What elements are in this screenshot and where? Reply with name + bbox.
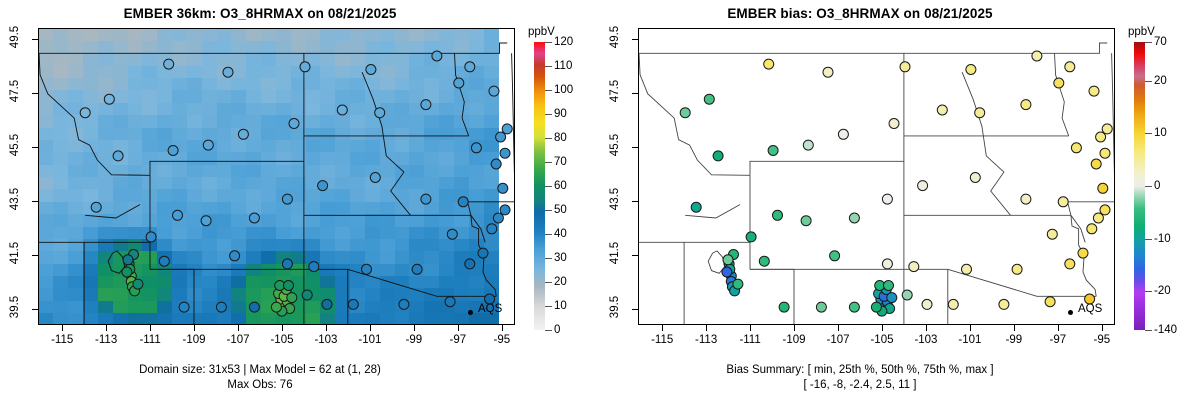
aqs-legend-dot <box>468 310 473 315</box>
station-marker[interactable] <box>801 216 811 226</box>
station-marker[interactable] <box>849 302 859 312</box>
station-marker[interactable] <box>491 159 501 169</box>
station-marker[interactable] <box>970 173 980 183</box>
station-marker[interactable] <box>889 119 899 129</box>
colorbar-units-label-bias: ppbV <box>1128 26 1155 38</box>
y-axis-tick <box>32 255 38 256</box>
station-marker[interactable] <box>282 259 292 269</box>
y-axis-tick-label: 49.5 <box>9 20 21 54</box>
station-marker[interactable] <box>1065 259 1075 269</box>
station-marker[interactable] <box>849 213 859 223</box>
colorbar-tick-label: 0 <box>1154 180 1160 192</box>
x-axis-tick <box>370 325 371 331</box>
y-axis-tick <box>632 147 638 148</box>
station-marker[interactable] <box>122 267 132 277</box>
y-axis-tick <box>632 255 638 256</box>
station-marker[interactable] <box>238 129 248 139</box>
x-axis-tick-label: -95 <box>1093 334 1110 346</box>
station-marker[interactable] <box>948 299 958 309</box>
x-axis-tick-label: -95 <box>493 334 510 346</box>
x-axis-tick <box>458 325 459 331</box>
y-axis-tick-label: 45.5 <box>9 128 21 162</box>
station-marker[interactable] <box>80 108 90 118</box>
x-axis-tick-label: -97 <box>1050 334 1067 346</box>
state-boundary <box>512 53 515 193</box>
station-marker[interactable] <box>502 124 512 134</box>
colorbar-tick <box>545 138 552 139</box>
colorbar-tick-label: -140 <box>1154 324 1177 336</box>
x-axis-tick-label: -97 <box>450 334 467 346</box>
y-axis-tick <box>32 93 38 94</box>
station-marker[interactable] <box>284 281 294 291</box>
y-axis-tick-label: 43.5 <box>609 182 621 216</box>
station-marker[interactable] <box>271 302 281 312</box>
y-axis-tick <box>32 201 38 202</box>
y-axis-tick-label: 39.5 <box>609 290 621 324</box>
x-axis-tick <box>838 325 839 331</box>
station-marker[interactable] <box>498 183 508 193</box>
x-axis-tick-label: -109 <box>183 334 206 346</box>
x-axis-tick <box>326 325 327 331</box>
station-marker[interactable] <box>713 151 723 161</box>
station-marker[interactable] <box>882 194 892 204</box>
station-marker[interactable] <box>123 255 133 265</box>
station-marker[interactable] <box>133 279 143 289</box>
y-axis-tick <box>632 39 638 40</box>
state-boundary <box>150 161 304 175</box>
colorbar-tick-label: 60 <box>554 180 567 192</box>
station-marker[interactable] <box>113 151 123 161</box>
y-axis-tick-label: 43.5 <box>9 182 21 216</box>
station-marker[interactable] <box>500 205 510 215</box>
x-axis-tick-label: -109 <box>783 334 806 346</box>
station-marker[interactable] <box>421 100 431 110</box>
x-axis-tick <box>970 325 971 331</box>
x-axis-tick <box>282 325 283 331</box>
station-marker[interactable] <box>289 119 299 129</box>
station-marker[interactable] <box>764 59 774 69</box>
station-marker[interactable] <box>500 148 510 158</box>
colorbar-tick-label: 10 <box>554 300 567 312</box>
station-marker[interactable] <box>164 59 174 69</box>
station-marker[interactable] <box>478 248 488 258</box>
station-marker[interactable] <box>1047 229 1057 239</box>
station-marker[interactable] <box>104 94 114 104</box>
caption-max-obs: Max Obs: 76 <box>0 378 520 393</box>
station-marker[interactable] <box>918 181 928 191</box>
station-marker[interactable] <box>159 256 169 266</box>
x-axis-tick-label: -107 <box>827 334 850 346</box>
y-axis-tick-label: 41.5 <box>609 236 621 270</box>
station-marker[interactable] <box>146 232 156 242</box>
station-marker[interactable] <box>487 224 497 234</box>
station-marker[interactable] <box>445 297 455 307</box>
station-marker[interactable] <box>680 108 690 118</box>
colorbar-tick <box>1145 133 1152 134</box>
colorbar-tick <box>1145 330 1152 331</box>
station-marker[interactable] <box>458 197 468 207</box>
y-axis-tick <box>32 39 38 40</box>
state-boundary <box>750 161 904 175</box>
station-marker[interactable] <box>838 129 848 139</box>
page-title-bias: EMBER bias: O3_8HRMAX on 08/21/2025 <box>600 6 1120 21</box>
station-marker[interactable] <box>1071 143 1081 153</box>
station-marker[interactable] <box>1054 78 1064 88</box>
caption-domain-size: Domain size: 31x53 | Max Model = 62 at (… <box>0 363 520 378</box>
station-marker[interactable] <box>962 264 972 274</box>
station-marker[interactable] <box>830 251 840 261</box>
station-marker[interactable] <box>465 62 475 72</box>
colorbar-tick <box>545 306 552 307</box>
x-axis-tick <box>662 325 663 331</box>
x-axis-tick-label: -105 <box>270 334 293 346</box>
x-axis-tick <box>238 325 239 331</box>
state-boundary <box>39 53 150 175</box>
y-axis-tick-label: 47.5 <box>609 74 621 108</box>
aqs-legend-label: AQS <box>478 303 502 315</box>
station-marker[interactable] <box>412 264 422 274</box>
station-marker[interactable] <box>816 302 826 312</box>
colorbar-gradient-concentration <box>534 42 545 330</box>
x-axis-tick <box>926 325 927 331</box>
station-marker[interactable] <box>337 105 347 115</box>
colorbar-tick-label: 10 <box>1154 127 1167 139</box>
station-marker[interactable] <box>493 213 503 223</box>
station-marker[interactable] <box>1078 248 1088 258</box>
state-boundary <box>1068 202 1086 243</box>
station-marker[interactable] <box>216 302 226 312</box>
station-marker[interactable] <box>421 194 431 204</box>
panel-model-concentration: EMBER 36km: O3_8HRMAX on 08/21/2025 -115… <box>0 0 600 409</box>
aqs-legend-dot <box>1068 310 1073 315</box>
station-marker[interactable] <box>1058 197 1068 207</box>
station-marker[interactable] <box>922 299 932 309</box>
colorbar-tick-label: 20 <box>554 276 567 288</box>
colorbar-tick <box>545 42 552 43</box>
colorbar-tick-label: 70 <box>1154 36 1167 48</box>
station-marker[interactable] <box>975 108 985 118</box>
station-marker[interactable] <box>779 302 789 312</box>
station-marker[interactable] <box>884 281 894 291</box>
colorbar-tick <box>1145 42 1152 43</box>
station-marker[interactable] <box>399 299 409 309</box>
x-axis-tick <box>502 325 503 331</box>
station-marker[interactable] <box>966 65 976 75</box>
y-axis-tick <box>632 309 638 310</box>
station-marker[interactable] <box>1021 194 1031 204</box>
map-overlay-bias <box>639 29 1115 325</box>
colorbar-tick-label: 100 <box>554 84 573 96</box>
station-marker[interactable] <box>1100 205 1110 215</box>
colorbar-tick-label: 20 <box>1154 75 1167 87</box>
station-marker[interactable] <box>723 255 733 265</box>
station-marker[interactable] <box>768 146 778 156</box>
colorbar-tick-label: 50 <box>554 204 567 216</box>
station-marker[interactable] <box>900 62 910 72</box>
y-axis-tick <box>32 147 38 148</box>
station-marker[interactable] <box>230 251 240 261</box>
x-axis-tick <box>750 325 751 331</box>
x-axis-tick-label: -107 <box>227 334 250 346</box>
x-axis-tick-label: -115 <box>651 334 673 346</box>
station-marker[interactable] <box>902 290 912 300</box>
state-boundary <box>304 269 496 296</box>
station-marker[interactable] <box>704 94 714 104</box>
station-marker[interactable] <box>722 267 732 277</box>
station-marker[interactable] <box>249 213 259 223</box>
station-marker[interactable] <box>375 108 385 118</box>
aqs-legend-label: AQS <box>1078 303 1102 315</box>
x-axis-tick <box>106 325 107 331</box>
station-marker[interactable] <box>465 259 475 269</box>
station-marker[interactable] <box>432 51 442 61</box>
station-marker[interactable] <box>282 194 292 204</box>
colorbar-tick-label: -10 <box>1154 233 1171 245</box>
colorbar-tick <box>545 66 552 67</box>
station-marker[interactable] <box>1089 86 1099 96</box>
colorbar-tick <box>1145 239 1152 240</box>
station-marker[interactable] <box>366 65 376 75</box>
colorbar-gradient-bias <box>1134 42 1145 330</box>
station-marker[interactable] <box>91 202 101 212</box>
x-axis-tick <box>1102 325 1103 331</box>
x-axis-tick-label: -101 <box>958 334 981 346</box>
state-boundary <box>468 202 486 243</box>
station-marker[interactable] <box>759 256 769 266</box>
station-marker[interactable] <box>1045 297 1055 307</box>
y-axis-tick-label: 49.5 <box>609 20 621 54</box>
x-axis-tick <box>794 325 795 331</box>
x-axis-tick <box>414 325 415 331</box>
caption-bias-summary-header: Bias Summary: [ min, 25th %, 50th %, 75t… <box>600 363 1120 378</box>
y-axis-tick <box>632 201 638 202</box>
colorbar-tick <box>1145 291 1152 292</box>
colorbar-tick <box>545 90 552 91</box>
colorbar-tick-label: 40 <box>554 228 567 240</box>
x-axis-tick <box>194 325 195 331</box>
colorbar-tick-label: 110 <box>554 60 572 72</box>
state-boundary <box>362 72 410 215</box>
station-marker[interactable] <box>1021 100 1031 110</box>
x-axis-tick-label: -113 <box>695 334 717 346</box>
station-marker[interactable] <box>871 302 881 312</box>
page-title: EMBER 36km: O3_8HRMAX on 08/21/2025 <box>0 6 520 21</box>
station-marker[interactable] <box>909 262 919 272</box>
x-axis-tick-label: -103 <box>914 334 937 346</box>
colorbar-tick <box>545 186 552 187</box>
station-marker[interactable] <box>823 67 833 77</box>
station-marker[interactable] <box>249 302 259 312</box>
station-marker[interactable] <box>1091 159 1101 169</box>
map-plot-bias[interactable] <box>638 28 1115 325</box>
x-axis-tick-label: -103 <box>314 334 337 346</box>
colorbar-tick <box>1145 81 1152 82</box>
colorbar-tick-label: -20 <box>1154 285 1171 297</box>
y-axis-tick <box>632 93 638 94</box>
y-axis-tick-label: 39.5 <box>9 290 21 324</box>
station-marker[interactable] <box>803 140 813 150</box>
station-marker[interactable] <box>1032 51 1042 61</box>
station-marker[interactable] <box>733 279 743 289</box>
station-marker[interactable] <box>1065 62 1075 72</box>
x-axis-tick <box>882 325 883 331</box>
station-marker[interactable] <box>302 290 312 300</box>
colorbar-tick <box>545 114 552 115</box>
figure-canvas: EMBER 36km: O3_8HRMAX on 08/21/2025 -115… <box>0 0 1200 409</box>
x-axis-tick-label: -113 <box>95 334 117 346</box>
station-marker[interactable] <box>691 202 701 212</box>
station-marker[interactable] <box>773 210 783 220</box>
x-axis-tick-label: -101 <box>358 334 381 346</box>
y-axis-tick-label: 47.5 <box>9 74 21 108</box>
colorbar-tick <box>545 282 552 283</box>
colorbar-units-label: ppbV <box>528 26 555 38</box>
x-axis-tick <box>1058 325 1059 331</box>
station-marker[interactable] <box>1096 132 1106 142</box>
colorbar-tick <box>545 330 552 331</box>
x-axis-tick-label: -99 <box>1006 334 1023 346</box>
station-marker[interactable] <box>168 146 178 156</box>
station-marker[interactable] <box>362 264 372 274</box>
panel-model-bias: EMBER bias: O3_8HRMAX on 08/21/2025 -115… <box>600 0 1200 409</box>
colorbar-tick-label: 90 <box>554 108 567 120</box>
x-axis-tick-label: -105 <box>870 334 893 346</box>
colorbar-tick <box>545 258 552 259</box>
station-marker[interactable] <box>1102 124 1112 134</box>
x-axis-tick-label: -99 <box>406 334 423 346</box>
map-overlay-concentration <box>39 29 515 325</box>
station-marker[interactable] <box>322 299 332 309</box>
state-boundary <box>639 53 750 175</box>
x-axis-tick-label: -111 <box>739 334 760 346</box>
station-marker[interactable] <box>370 173 380 183</box>
station-marker[interactable] <box>887 293 897 303</box>
station-marker[interactable] <box>287 293 297 303</box>
caption-bias-summary-values: [ -16, -8, -2.4, 2.5, 11 ] <box>600 378 1120 393</box>
station-marker[interactable] <box>348 299 358 309</box>
x-axis-tick-label: -115 <box>51 334 73 346</box>
station-marker[interactable] <box>179 302 189 312</box>
state-boundary <box>904 269 1096 296</box>
station-marker[interactable] <box>496 132 506 142</box>
colorbar-tick <box>545 234 552 235</box>
station-marker[interactable] <box>223 67 233 77</box>
station-marker[interactable] <box>173 210 183 220</box>
colorbar-tick-label: 30 <box>554 252 567 264</box>
y-axis-tick <box>32 309 38 310</box>
station-marker[interactable] <box>201 216 211 226</box>
station-marker[interactable] <box>999 299 1009 309</box>
station-marker[interactable] <box>1100 148 1110 158</box>
station-marker[interactable] <box>882 259 892 269</box>
y-axis-tick-label: 45.5 <box>609 128 621 162</box>
colorbar-tick <box>1145 186 1152 187</box>
station-marker[interactable] <box>300 62 310 72</box>
station-marker[interactable] <box>471 143 481 153</box>
state-boundary <box>962 72 1010 215</box>
colorbar-tick-label: 120 <box>554 36 573 48</box>
station-marker[interactable] <box>489 86 499 96</box>
station-marker[interactable] <box>937 105 947 115</box>
colorbar-tick-label: 70 <box>554 156 567 168</box>
station-marker[interactable] <box>746 232 756 242</box>
station-marker[interactable] <box>447 229 457 239</box>
x-axis-tick <box>62 325 63 331</box>
x-axis-tick-label: -111 <box>139 334 160 346</box>
colorbar-tick <box>545 210 552 211</box>
colorbar-tick-label: 80 <box>554 132 567 144</box>
colorbar-tick <box>545 162 552 163</box>
station-marker[interactable] <box>309 262 319 272</box>
y-axis-tick-label: 41.5 <box>9 236 21 270</box>
station-marker[interactable] <box>1093 213 1103 223</box>
station-marker[interactable] <box>203 140 213 150</box>
station-marker[interactable] <box>1098 183 1108 193</box>
station-marker[interactable] <box>454 78 464 88</box>
station-marker[interactable] <box>1012 264 1022 274</box>
x-axis-tick <box>1014 325 1015 331</box>
state-boundary <box>1112 53 1115 193</box>
map-plot-concentration[interactable] <box>38 28 515 325</box>
x-axis-tick <box>150 325 151 331</box>
station-marker[interactable] <box>318 181 328 191</box>
colorbar-tick-label: 0 <box>554 324 560 336</box>
station-marker[interactable] <box>1087 224 1097 234</box>
x-axis-tick <box>706 325 707 331</box>
